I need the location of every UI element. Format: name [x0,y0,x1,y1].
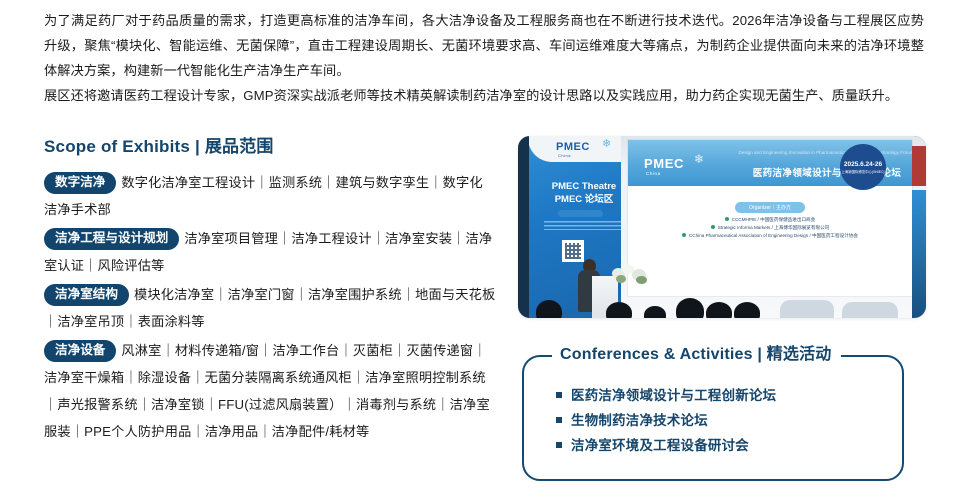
snowflake-icon: ❄ [694,152,704,166]
scope-tag-pill[interactable]: 洁净室结构 [44,284,129,306]
conference-item-label: 生物制药洁净技术论坛 [571,413,708,428]
intro-section: 为了满足药厂对于药品质量的需求，打造更高标准的洁净车间，各大洁净设备及工程服务商… [44,8,924,108]
photo-presentation-screen: PMEC China ❄ Design and Engineering Inno… [628,140,912,296]
photo-audience [518,278,926,318]
photo-banner-title: PMEC Theatre PMEC 论坛区 [544,180,624,206]
photo-right-red-panel [912,146,926,186]
scope-tag-pill[interactable]: 数字洁净 [44,172,116,194]
square-bullet-icon [556,392,562,398]
scope-group: 洁净设备风淋室｜材料传递箱/窗｜洁净工作台｜灭菌柜｜灭菌传递窗｜洁净室干燥箱｜除… [44,337,496,445]
photo-slide-header: PMEC China ❄ Design and Engineering Inno… [628,140,912,186]
scope-group-body: 洁净工程与设计规划洁净室项目管理｜洁净工程设计｜洁净室安装｜洁净室认证｜风险评估… [44,225,496,279]
snowflake-icon: ❄ [602,139,613,150]
photo-slide-brand: PMEC China [644,156,684,176]
conferences-title: Conferences & Activities | 精选活动 [552,345,841,365]
intro-paragraph-1: 为了满足药厂对于药品质量的需求，打造更高标准的洁净车间，各大洁净设备及工程服务商… [44,8,924,83]
photo-slide-title-en: Design and Engineering Innovation in Pha… [736,150,916,156]
photo-organizer-item: Strategic Informa Markets / 上海博华国际展览有限公司 [628,224,912,232]
scope-tag-pill[interactable]: 洁净工程与设计规划 [44,228,179,250]
photo-slide-brand-sub: China [646,171,684,176]
photo-banner-brand-sub: China [558,153,590,158]
bullet-dot-icon [725,217,729,221]
conference-item[interactable]: 医药洁净领域设计与工程创新论坛 [556,383,886,408]
photo-slide-title-cn: 医药洁净领域设计与工程创新论坛 [732,165,922,179]
scope-of-exhibits-section: Scope of Exhibits | 展品范围 数字洁净数字化洁净室工程设计｜… [44,132,496,447]
scope-group: 洁净工程与设计规划洁净室项目管理｜洁净工程设计｜洁净室安装｜洁净室认证｜风险评估… [44,225,496,279]
conference-item[interactable]: 生物制药洁净技术论坛 [556,408,886,433]
photo-banner-brand: PMEC China [556,141,590,158]
bullet-dot-icon [682,233,686,237]
photo-banner-title-cn: PMEC 论坛区 [544,193,624,206]
qr-code-icon [562,240,584,262]
conference-item-label: 医药洁净领域设计与工程创新论坛 [571,388,776,403]
conferences-list: 医药洁净领域设计与工程创新论坛 生物制药洁净技术论坛 洁净室环境及工程设备研讨会 [556,383,886,458]
intro-paragraph-2: 展区还将邀请医药工程设计专家，GMP资深实战派老师等技术精英解读制药洁净室的设计… [44,83,924,108]
scope-group-body: 洁净设备风淋室｜材料传递箱/窗｜洁净工作台｜灭菌柜｜灭菌传递窗｜洁净室干燥箱｜除… [44,337,496,445]
photo-organizer-label: Organizer｜主办方 [735,202,805,213]
square-bullet-icon [556,417,562,423]
photo-organizer-list: CCCMHPIE / 中国医药保健品进出口商会 Strategic Inform… [628,216,912,240]
photo-slide-date: 2025.6.24-26 [844,161,882,168]
scope-group: 洁净室结构模块化洁净室｜洁净室门窗｜洁净室围护系统｜地面与天花板｜洁净室吊顶｜表… [44,281,496,335]
conference-item-label: 洁净室环境及工程设备研讨会 [571,438,749,453]
scope-section-title: Scope of Exhibits | 展品范围 [44,132,496,157]
forum-photo: PMEC China ❄ PMEC Theatre PMEC 论坛区 PMEC … [518,136,926,318]
scope-group-body: 数字洁净数字化洁净室工程设计｜监测系统｜建筑与数字孪生｜数字化洁净手术部 [44,169,496,223]
photo-slide-venue: 上海新国际博览中心(SNIEC) [841,169,884,174]
photo-organizer-item: CCCMHPIE / 中国医药保健品进出口商会 [628,216,912,224]
photo-slide-date-badge: 2025.6.24-26 上海新国际博览中心(SNIEC) [840,144,886,190]
conference-item[interactable]: 洁净室环境及工程设备研讨会 [556,433,886,458]
scope-group: 数字洁净数字化洁净室工程设计｜监测系统｜建筑与数字孪生｜数字化洁净手术部 [44,169,496,223]
photo-banner-badge [558,210,603,217]
photo-banner-fineprint [544,221,622,230]
square-bullet-icon [556,442,562,448]
scope-group-body: 洁净室结构模块化洁净室｜洁净室门窗｜洁净室围护系统｜地面与天花板｜洁净室吊顶｜表… [44,281,496,335]
photo-organizer-item: CChina Pharmaceutical Association of Eng… [628,232,912,240]
bullet-dot-icon [711,225,715,229]
photo-banner-title-en: PMEC Theatre [544,180,624,193]
scope-tag-pill[interactable]: 洁净设备 [44,340,116,362]
